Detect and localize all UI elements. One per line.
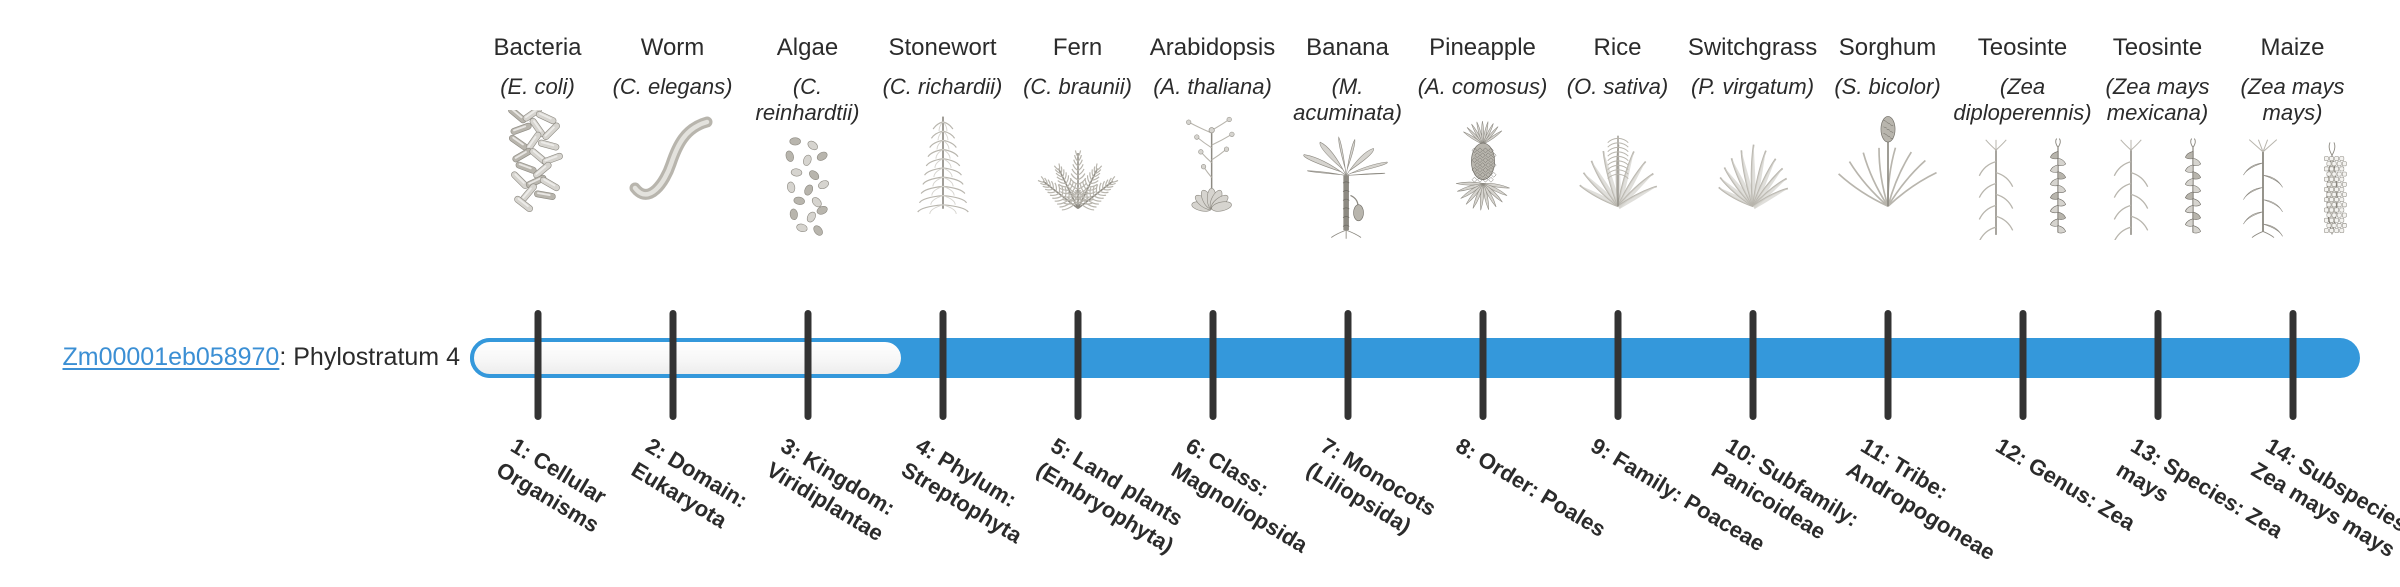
species-scientific-name: (O. sativa) <box>1567 74 1668 100</box>
species-common-name: Rice <box>1593 34 1641 62</box>
species-scientific-name: (S. bicolor) <box>1834 74 1940 100</box>
species-scientific-name: (Zea diploperennis) <box>1953 74 2091 127</box>
timeline-tick[interactable] <box>1010 310 1145 420</box>
species-column: Arabidopsis(A. thaliana) <box>1145 34 1280 214</box>
species-column: Fern(C. braunii) <box>1010 34 1145 214</box>
rank-slot: 13: Species: Zea mays <box>2090 428 2225 578</box>
timeline-tick-row <box>470 310 2360 420</box>
tick-mark-icon <box>939 310 946 420</box>
rank-slot: 10: Subfamily: Panicoideae <box>1685 428 1820 578</box>
species-common-name: Fern <box>1053 34 1102 62</box>
species-scientific-name: (C. braunii) <box>1023 74 1132 100</box>
tick-mark-icon <box>669 310 676 420</box>
pineapple-illustration-icon <box>1437 110 1529 214</box>
rank-slot: 5: Land plants (Embryophyta) <box>1010 428 1145 578</box>
species-scientific-name: (A. thaliana) <box>1153 74 1272 100</box>
tick-mark-icon <box>1884 310 1891 420</box>
arabidopsis-illustration-icon <box>1167 110 1259 214</box>
timeline-tick[interactable] <box>740 310 875 420</box>
tick-mark-icon <box>2019 310 2026 420</box>
phylostratum-figure: Zm00001eb058970: Phylostratum 4 Bacteria… <box>0 0 2400 580</box>
species-common-name: Pineapple <box>1429 34 1536 62</box>
species-column: Sorghum(S. bicolor) <box>1820 34 1955 214</box>
rank-text: Subspecies: Zea mays mays <box>2247 452 2400 561</box>
species-scientific-name: (A. comosus) <box>1418 74 1548 100</box>
rank-slot: 7: Monocots (Liliopsida) <box>1280 428 1415 578</box>
timeline-tick[interactable] <box>2225 310 2360 420</box>
timeline-tick[interactable] <box>2090 310 2225 420</box>
rank-slot: 1: Cellular Organisms <box>470 428 605 578</box>
rank-slot: 8: Order: Poales <box>1415 428 1550 578</box>
rank-slot: 12: Genus: Zea <box>1955 428 2090 578</box>
tick-mark-icon <box>1074 310 1081 420</box>
rank-slot: 4: Phylum: Streptophyta <box>875 428 1010 578</box>
species-common-name: Bacteria <box>493 34 581 62</box>
rank-slot: 14: Subspecies: Zea mays mays <box>2225 428 2360 578</box>
timeline-tick[interactable] <box>1280 310 1415 420</box>
timeline-tick[interactable] <box>1145 310 1280 420</box>
species-common-name: Algae <box>777 34 838 62</box>
species-column: Teosinte(Zea diploperennis) <box>1955 34 2090 240</box>
rank-number: 9: <box>1586 433 1616 465</box>
gene-id-link[interactable]: Zm00001eb058970 <box>62 343 279 371</box>
rank-slot: 3: Kingdom: Viridiplantae <box>740 428 875 578</box>
stonewort-illustration-icon <box>902 110 984 214</box>
species-common-name: Banana <box>1306 34 1389 62</box>
species-column: Switchgrass(P. virgatum) <box>1685 34 1820 214</box>
sorghum-illustration-icon <box>1838 110 1938 214</box>
phylostratum-value: Phylostratum 4 <box>293 343 460 371</box>
tick-mark-icon <box>2154 310 2161 420</box>
tick-mark-icon <box>1749 310 1756 420</box>
rice-illustration-icon <box>1568 110 1668 214</box>
species-column: Teosinte(Zea mays mexicana) <box>2090 34 2225 240</box>
timeline-tick[interactable] <box>1955 310 2090 420</box>
fern-illustration-icon <box>1028 110 1128 214</box>
species-common-name: Maize <box>2260 34 2324 62</box>
timeline-tick[interactable] <box>1550 310 1685 420</box>
tick-mark-icon <box>1614 310 1621 420</box>
species-header-row: Bacteria(E. coli) <box>470 34 2360 304</box>
tick-mark-icon <box>2289 310 2296 420</box>
maize-illustration-icon <box>2226 136 2360 240</box>
species-common-name: Arabidopsis <box>1150 34 1275 62</box>
teosinte-illustration-icon <box>2098 136 2218 240</box>
tick-mark-icon <box>1209 310 1216 420</box>
rank-text: Domain: Eukaryota <box>627 446 751 533</box>
gene-label-separator: : <box>279 343 293 371</box>
species-column: Stonewort(C. richardii) <box>875 34 1010 214</box>
worm-illustration-icon <box>621 110 725 214</box>
tick-mark-icon <box>804 310 811 420</box>
species-column: Maize(Zea mays mays) <box>2225 34 2360 240</box>
species-scientific-name: (Zea mays mexicana) <box>2090 74 2225 127</box>
species-column: Worm(C. elegans) <box>605 34 740 214</box>
gene-phylostratum-label: Zm00001eb058970: Phylostratum 4 <box>40 344 460 372</box>
tick-mark-icon <box>1479 310 1486 420</box>
algae-illustration-icon <box>771 136 845 240</box>
species-scientific-name: (C. elegans) <box>613 74 733 100</box>
species-scientific-name: (M. acuminata) <box>1280 74 1415 127</box>
species-column: Banana(M. acuminata) <box>1280 34 1415 240</box>
species-scientific-name: (Zea mays mays) <box>2225 74 2360 127</box>
timeline-tick[interactable] <box>875 310 1010 420</box>
timeline-tick[interactable] <box>470 310 605 420</box>
species-common-name: Stonewort <box>888 34 996 62</box>
bacteria-illustration-icon <box>499 110 577 214</box>
switchgrass-illustration-icon <box>1703 110 1803 214</box>
rank-slot: 2: Domain: Eukaryota <box>605 428 740 578</box>
timeline-tick[interactable] <box>1820 310 1955 420</box>
species-common-name: Switchgrass <box>1688 34 1817 62</box>
species-column: Rice(O. sativa) <box>1550 34 1685 214</box>
species-scientific-name: (C. richardii) <box>883 74 1003 100</box>
banana-illustration-icon <box>1296 136 1400 240</box>
species-scientific-name: (C. reinhardtii) <box>740 74 875 127</box>
species-common-name: Teosinte <box>2113 34 2202 62</box>
rank-slot: 9: Family: Poaceae <box>1550 428 1685 578</box>
tick-mark-icon <box>534 310 541 420</box>
species-column: Algae(C. reinhardtii) <box>740 34 875 240</box>
taxonomic-rank-row: 1: Cellular Organisms2: Domain: Eukaryot… <box>470 428 2360 578</box>
timeline-tick[interactable] <box>1685 310 1820 420</box>
rank-number: 12: <box>1991 433 2031 471</box>
species-common-name: Worm <box>641 34 705 62</box>
rank-number: 8: <box>1451 433 1481 465</box>
species-common-name: Sorghum <box>1839 34 1936 62</box>
species-scientific-name: (P. virgatum) <box>1691 74 1814 100</box>
teosinte-illustration-icon <box>1963 136 2083 240</box>
species-column: Bacteria(E. coli) <box>470 34 605 214</box>
taxonomic-rank-label: 14: Subspecies: Zea mays mays <box>2246 432 2400 587</box>
timeline-tick[interactable] <box>605 310 740 420</box>
rank-text: Cellular Organisms <box>492 446 610 537</box>
species-scientific-name: (E. coli) <box>500 74 575 100</box>
rank-slot: 6: Class: Magnoliopsida <box>1145 428 1280 578</box>
timeline-tick[interactable] <box>1415 310 1550 420</box>
rank-text: Phylum: Streptophyta <box>897 446 1026 548</box>
species-common-name: Teosinte <box>1978 34 2067 62</box>
rank-slot: 11: Tribe: Andropogoneae <box>1820 428 1955 578</box>
species-column: Pineapple(A. comosus) <box>1415 34 1550 214</box>
tick-mark-icon <box>1344 310 1351 420</box>
